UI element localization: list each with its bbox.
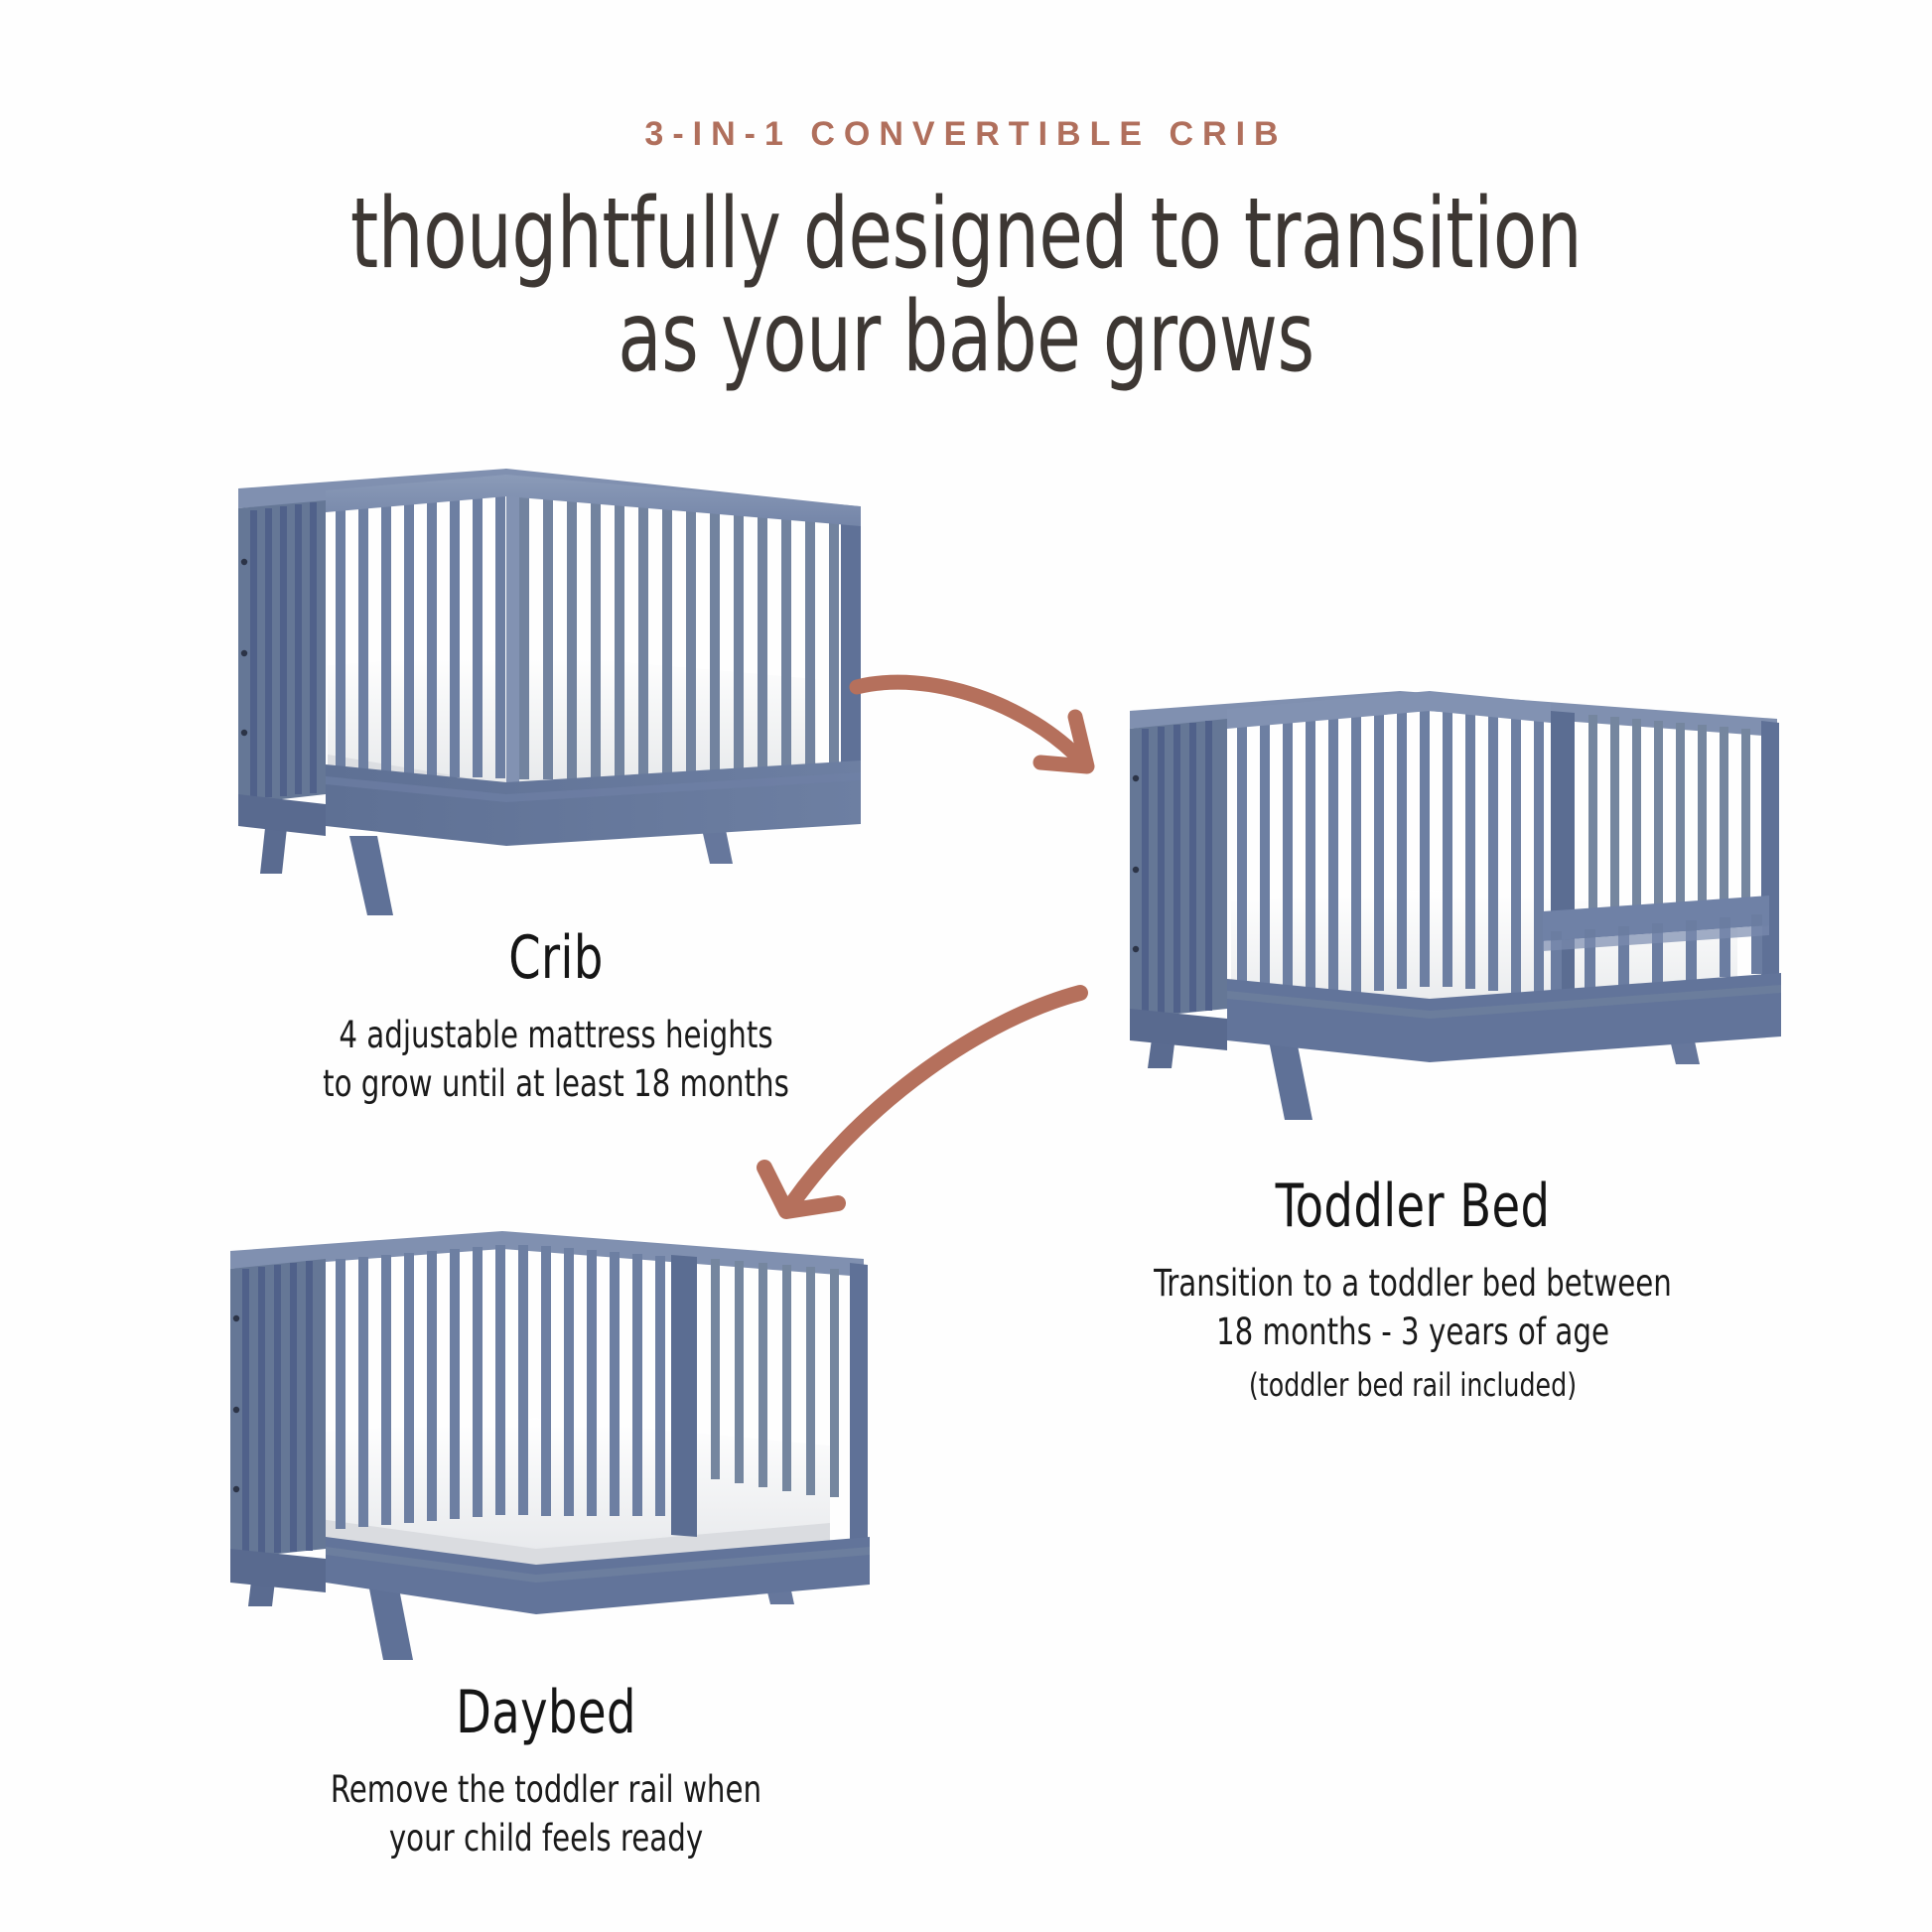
- toddler-end-panel-slats: [1130, 719, 1227, 1019]
- caption-crib: Crib 4 adjustable mattress heights to gr…: [40, 923, 1072, 1108]
- section-body-crib-line-2: to grow until at least 18 months: [101, 1059, 1010, 1108]
- headline-line-2: as your babe grows: [174, 287, 1758, 390]
- headline-line-1: thoughtfully designed to transition: [350, 178, 1582, 291]
- toddler-bed-illustration: [1102, 675, 1797, 1132]
- crib-mid-post: [506, 486, 519, 782]
- daybed-end-lower-panel: [230, 1549, 326, 1592]
- daybed-back-slats: [336, 1245, 665, 1529]
- page-title: thoughtfully designed to transition as y…: [174, 184, 1758, 390]
- section-body-toddler-line-1: Transition to a toddler bed between: [956, 1259, 1869, 1308]
- section-title-crib: Crib: [112, 923, 1000, 993]
- section-body-daybed-line-1: Remove the toddler rail when: [83, 1765, 1010, 1814]
- crib-end-panel-slats: [238, 500, 326, 804]
- section-body-toddler-line-2: 18 months - 3 years of age: [956, 1308, 1869, 1356]
- caption-toddler: Toddler Bed Transition to a toddler bed …: [894, 1172, 1932, 1408]
- caption-daybed: Daybed Remove the toddler rail when your…: [20, 1678, 1072, 1863]
- section-title-toddler: Toddler Bed: [966, 1172, 1860, 1241]
- toddler-end-lower-panel: [1130, 1009, 1227, 1050]
- section-body-toddler-note: (toddler bed rail included): [956, 1364, 1869, 1407]
- eyebrow-label: 3-IN-1 CONVERTIBLE CRIB: [0, 115, 1932, 154]
- daybed-illustration: [208, 1221, 884, 1658]
- section-body-daybed-line-2: your child feels ready: [83, 1814, 1010, 1863]
- crib-end-lower-panel: [238, 794, 326, 836]
- section-title-daybed: Daybed: [93, 1678, 999, 1747]
- toddler-front-top-rail: [1227, 691, 1551, 729]
- section-body-crib-line-1: 4 adjustable mattress heights: [101, 1011, 1010, 1059]
- daybed-end-panel-slats: [230, 1259, 326, 1559]
- infographic-canvas: 3-IN-1 CONVERTIBLE CRIB thoughtfully des…: [0, 0, 1932, 1932]
- daybed-right-post: [671, 1255, 697, 1537]
- crib-illustration: [208, 467, 884, 903]
